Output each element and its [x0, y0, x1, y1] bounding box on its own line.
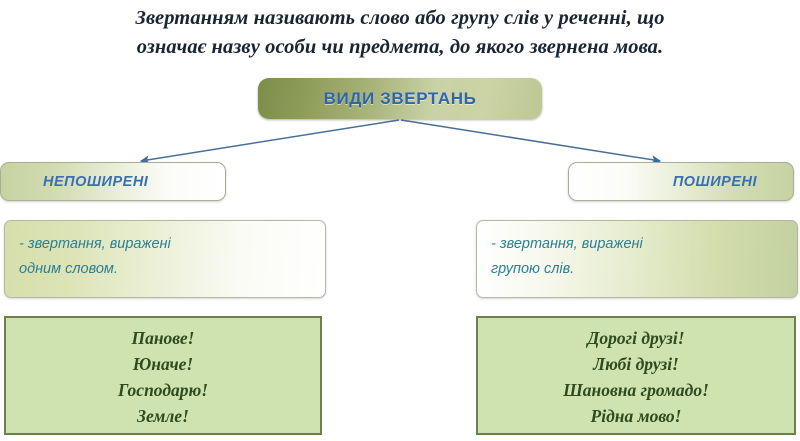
description-extended-line-1: - звертання, виражені [491, 232, 783, 257]
diagram-canvas: Звертанням називають слово або групу слі… [0, 0, 800, 441]
branch-node-extended-label: ПОШИРЕНІ [673, 174, 757, 190]
definition-title-line-2: означає назву особи чи предмета, до яког… [0, 33, 800, 62]
example-item: Земле! [137, 403, 189, 429]
examples-box-unextended: Панове! Юначе! Господарю! Земле! [4, 316, 322, 435]
branch-node-unextended[interactable]: НЕПОШИРЕНІ [0, 162, 226, 201]
definition-title-line-1: Звертанням називають слово або групу слі… [0, 4, 800, 33]
root-node-label: ВИДИ ЗВЕРТАНЬ [324, 89, 477, 109]
description-unextended-line-1: - звертання, виражені [19, 232, 311, 257]
example-item: Дорогі друзі! [587, 325, 684, 351]
example-item: Шановна громадо! [563, 377, 709, 403]
example-item: Рідна мово! [591, 403, 682, 429]
examples-box-extended: Дорогі друзі! Любі друзі! Шановна громад… [476, 316, 796, 435]
description-extended-line-2: групою слів. [491, 257, 783, 282]
description-card-extended: - звертання, виражені групою слів. [476, 220, 798, 298]
branch-node-unextended-label: НЕПОШИРЕНІ [43, 174, 148, 190]
root-node-vydy-zvertan[interactable]: ВИДИ ЗВЕРТАНЬ [258, 78, 542, 119]
example-item: Панове! [131, 325, 194, 351]
description-card-unextended: - звертання, виражені одним словом. [4, 220, 326, 298]
example-item: Господарю! [118, 377, 208, 403]
description-unextended-line-2: одним словом. [19, 257, 311, 282]
arrow-to-unextended [141, 120, 399, 161]
branch-node-extended[interactable]: ПОШИРЕНІ [568, 162, 794, 201]
definition-title: Звертанням називають слово або групу слі… [0, 4, 800, 62]
arrow-to-extended [401, 120, 660, 161]
example-item: Любі друзі! [593, 351, 679, 377]
example-item: Юначе! [133, 351, 193, 377]
